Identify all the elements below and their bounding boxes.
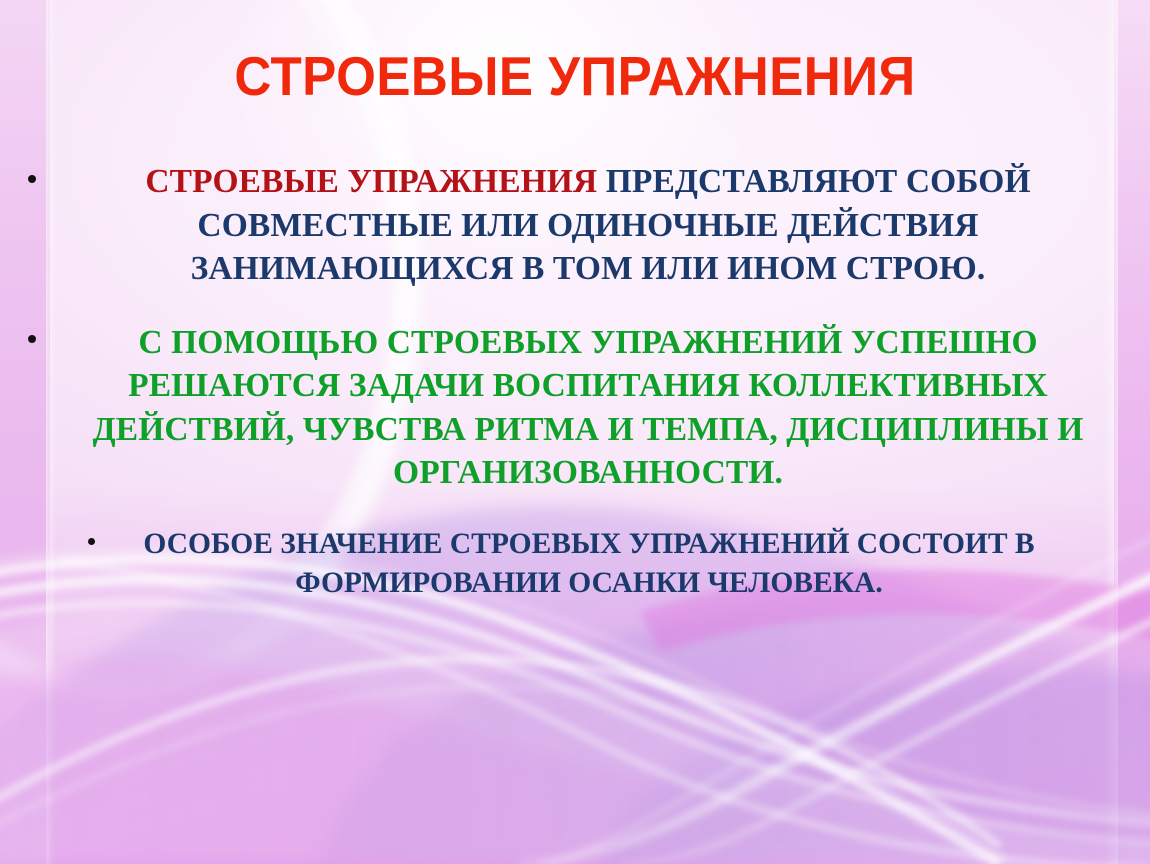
list-item: С ПОМОЩЬЮ СТРОЕВЫХ УПРАЖНЕНИЙ УСПЕШНО РЕ… [14,321,1128,495]
bullet-list: СТРОЕВЫЕ УПРАЖНЕНИЯ ПРЕДСТАВЛЯЮТ СОБОЙ С… [14,160,1128,603]
bullet-dot-icon [28,175,36,183]
bullet-2-text: С ПОМОЩЬЮ СТРОЕВЫХ УПРАЖНЕНИЙ УСПЕШНО РЕ… [93,324,1084,492]
bullet-1-accent-text: СТРОЕВЫЕ УПРАЖНЕНИЯ [145,163,597,200]
page-title: СТРОЕВЫЕ УПРАЖНЕНИЯ [40,48,1110,104]
list-item: ОСОБОЕ ЗНАЧЕНИЕ СТРОЕВЫХ УПРАЖНЕНИЙ СОСТ… [14,525,1128,603]
slide-content: СТРОЕВЫЕ УПРАЖНЕНИЯ СТРОЕВЫЕ УПРАЖНЕНИЯ … [0,0,1150,864]
bullet-dot-icon [28,335,36,343]
presentation-slide: СТРОЕВЫЕ УПРАЖНЕНИЯ СТРОЕВЫЕ УПРАЖНЕНИЯ … [0,0,1150,864]
slide-body: СТРОЕВЫЕ УПРАЖНЕНИЯ ПРЕДСТАВЛЯЮТ СОБОЙ С… [14,160,1128,625]
bullet-3-text: ОСОБОЕ ЗНАЧЕНИЕ СТРОЕВЫХ УПРАЖНЕНИЙ СОСТ… [143,528,1034,599]
bullet-dot-icon [88,538,95,545]
list-item: СТРОЕВЫЕ УПРАЖНЕНИЯ ПРЕДСТАВЛЯЮТ СОБОЙ С… [14,160,1128,291]
